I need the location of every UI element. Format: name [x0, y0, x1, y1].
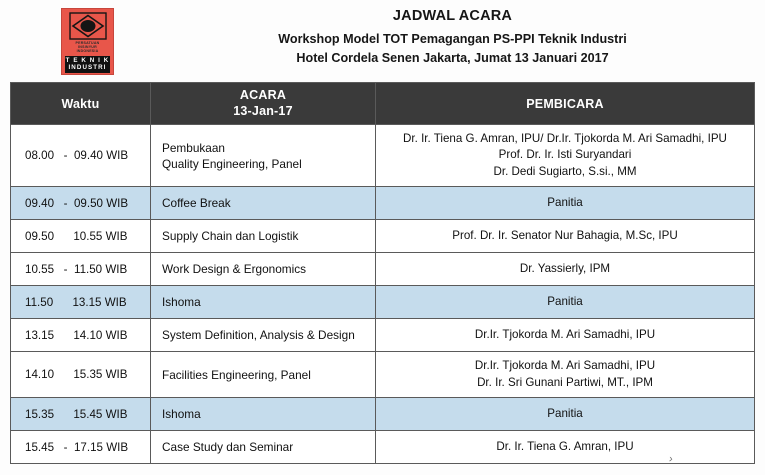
cell-waktu: 11.50 13.15 WIB	[11, 286, 151, 319]
title-block: JADWAL ACARA Workshop Model TOT Pemagang…	[150, 6, 755, 67]
column-header-pembicara: PEMBICARA	[376, 83, 755, 125]
cell-acara-line: Coffee Break	[162, 195, 375, 211]
cell-acara: Coffee Break	[151, 187, 376, 220]
cell-acara-line: System Definition, Analysis & Design	[162, 327, 375, 343]
page-title: JADWAL ACARA	[150, 6, 755, 26]
cell-acara-line: Work Design & Ergonomics	[162, 261, 375, 277]
table-row: 15.45 - 17.15 WIBCase Study dan SeminarD…	[11, 431, 755, 464]
cell-pembicara: Panitia	[376, 286, 755, 319]
table-row: 08.00 - 09.40 WIBPembukaanQuality Engine…	[11, 125, 755, 187]
cell-acara: PembukaanQuality Engineering, Panel	[151, 125, 376, 187]
table-row: 15.35 15.45 WIBIshomaPanitia	[11, 398, 755, 431]
document-header: PERSATUANINSINYURINDONESIA T E K N I K I…	[0, 0, 765, 80]
cell-acara: Facilities Engineering, Panel	[151, 352, 376, 398]
logo-tagline: PERSATUANINSINYURINDONESIA	[66, 41, 110, 54]
cell-pembicara-line: Dr.Ir. Tjokorda M. Ari Samadhi, IPU	[376, 358, 754, 375]
cell-pembicara-line: Dr.Ir. Tjokorda M. Ari Samadhi, IPU	[376, 327, 754, 344]
table-header-row: Waktu ACARA 13-Jan-17 PEMBICARA	[11, 83, 755, 125]
cell-pembicara-line: Prof. Dr. Ir. Isti Suryandari	[376, 147, 754, 164]
schedule-table: Waktu ACARA 13-Jan-17 PEMBICARA 08.00 - …	[10, 82, 755, 464]
table-row: 11.50 13.15 WIBIshomaPanitia	[11, 286, 755, 319]
cell-acara: Work Design & Ergonomics	[151, 253, 376, 286]
cell-acara-line: Quality Engineering, Panel	[162, 156, 375, 172]
cell-acara-line: Ishoma	[162, 406, 375, 422]
column-header-waktu: Waktu	[11, 83, 151, 125]
cell-pembicara-line: Dr. Dedi Sugiarto, S.si., MM	[376, 164, 754, 181]
cell-pembicara-line: Panitia	[376, 406, 754, 423]
cell-acara-line: Case Study dan Seminar	[162, 439, 375, 455]
cell-pembicara-line: Dr. Yassierly, IPM	[376, 261, 754, 278]
cell-pembicara: Prof. Dr. Ir. Senator Nur Bahagia, M.Sc,…	[376, 220, 755, 253]
column-header-acara-line1: ACARA	[240, 88, 286, 102]
table-row: 09.50 10.55 WIBSupply Chain dan Logistik…	[11, 220, 755, 253]
cell-acara: System Definition, Analysis & Design	[151, 319, 376, 352]
cell-acara-line: Facilities Engineering, Panel	[162, 367, 375, 383]
schedule-document: PERSATUANINSINYURINDONESIA T E K N I K I…	[0, 0, 765, 475]
cell-pembicara-line: Dr. Ir. Tiena G. Amran, IPU/ Dr.Ir. Tjok…	[376, 131, 754, 148]
cell-acara: Ishoma	[151, 398, 376, 431]
cell-pembicara-line: Panitia	[376, 195, 754, 212]
cell-pembicara: Dr.Ir. Tjokorda M. Ari Samadhi, IPU	[376, 319, 755, 352]
page-subtitle-line2: Hotel Cordela Senen Jakarta, Jumat 13 Ja…	[150, 49, 755, 68]
cell-acara: Ishoma	[151, 286, 376, 319]
cell-pembicara-line: Prof. Dr. Ir. Senator Nur Bahagia, M.Sc,…	[376, 228, 754, 245]
cell-waktu: 14.10 15.35 WIB	[11, 352, 151, 398]
table-row: 10.55 - 11.50 WIBWork Design & Ergonomic…	[11, 253, 755, 286]
table-body: 08.00 - 09.40 WIBPembukaanQuality Engine…	[11, 125, 755, 464]
cell-pembicara-line: Panitia	[376, 294, 754, 311]
table-row: 09.40 - 09.50 WIBCoffee BreakPanitia	[11, 187, 755, 220]
logo-mark-svg	[68, 12, 108, 40]
table-row: 13.15 14.10 WIBSystem Definition, Analys…	[11, 319, 755, 352]
cell-pembicara: Dr. Ir. Tiena G. Amran, IPU/ Dr.Ir. Tjok…	[376, 125, 755, 187]
cell-pembicara: Panitia	[376, 187, 755, 220]
cell-waktu: 15.35 15.45 WIB	[11, 398, 151, 431]
cell-acara: Case Study dan Seminar	[151, 431, 376, 464]
logo-diamond-icon	[68, 12, 108, 40]
cell-pembicara: Dr. Yassierly, IPM	[376, 253, 755, 286]
cell-acara-line: Pembukaan	[162, 140, 375, 156]
cell-pembicara: Dr.Ir. Tjokorda M. Ari Samadhi, IPUDr. I…	[376, 352, 755, 398]
logo-unit-name-line2: INDUSTRI	[68, 64, 106, 71]
cell-acara-line: Supply Chain dan Logistik	[162, 228, 375, 244]
cell-waktu: 15.45 - 17.15 WIB	[11, 431, 151, 464]
cell-acara: Supply Chain dan Logistik	[151, 220, 376, 253]
pii-teknik-industri-logo: PERSATUANINSINYURINDONESIA T E K N I K I…	[61, 8, 114, 75]
logo-unit-name: T E K N I K INDUSTRI	[65, 56, 110, 74]
cell-pembicara-line: Dr. Ir. Sri Gunani Partiwi, MT., IPM	[376, 375, 754, 392]
page-subtitle-line1: Workshop Model TOT Pemagangan PS-PPI Tek…	[150, 30, 755, 49]
cell-waktu: 09.40 - 09.50 WIB	[11, 187, 151, 220]
column-header-acara-line2: 13-Jan-17	[151, 104, 375, 120]
table-row: 14.10 15.35 WIBFacilities Engineering, P…	[11, 352, 755, 398]
cell-pembicara: Panitia	[376, 398, 755, 431]
cell-waktu: 10.55 - 11.50 WIB	[11, 253, 151, 286]
logo-unit-name-line1: T E K N I K	[66, 57, 110, 64]
cell-waktu: 13.15 14.10 WIB	[11, 319, 151, 352]
cell-pembicara-line: Dr. Ir. Tiena G. Amran, IPU	[376, 439, 754, 456]
table-head: Waktu ACARA 13-Jan-17 PEMBICARA	[11, 83, 755, 125]
cell-waktu: 09.50 10.55 WIB	[11, 220, 151, 253]
cell-pembicara: Dr. Ir. Tiena G. Amran, IPU	[376, 431, 755, 464]
cell-acara-line: Ishoma	[162, 294, 375, 310]
cell-waktu: 08.00 - 09.40 WIB	[11, 125, 151, 187]
column-header-acara: ACARA 13-Jan-17	[151, 83, 376, 125]
